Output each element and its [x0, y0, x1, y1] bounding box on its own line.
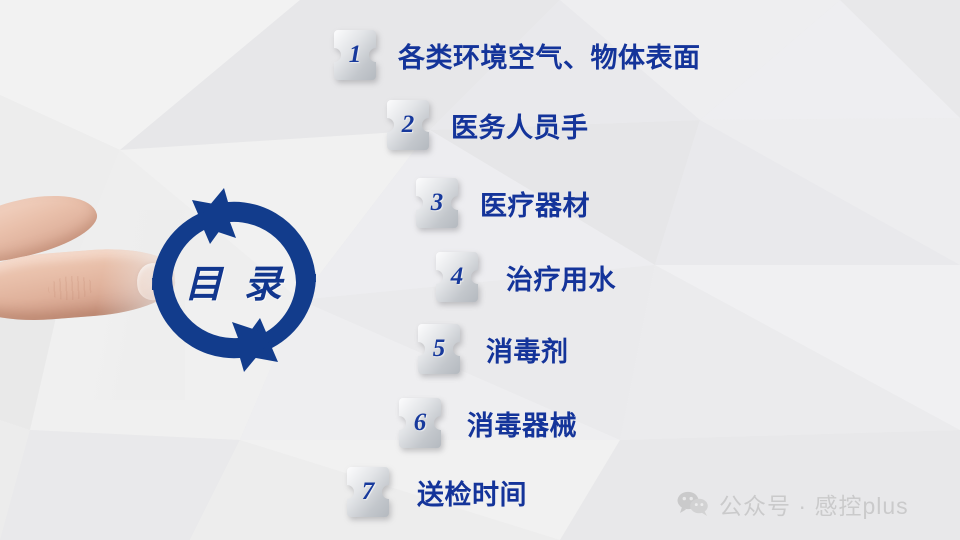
item-label: 送检时间: [417, 473, 527, 512]
contents-list: 1 各类环境空气、物体表面 2 医务人员手 3 医疗器材: [0, 0, 960, 540]
number-badge: 6: [397, 396, 443, 450]
watermark: 公众号 · 感控plus: [676, 487, 909, 521]
item-number: 3: [414, 176, 460, 230]
number-badge: 5: [416, 322, 462, 376]
list-item[interactable]: 4 治疗用水: [434, 250, 616, 304]
item-label: 消毒器械: [467, 404, 577, 443]
number-badge: 2: [385, 98, 431, 152]
item-number: 4: [434, 250, 480, 304]
item-label: 医疗器材: [480, 184, 590, 223]
item-number: 5: [416, 322, 462, 376]
item-number: 7: [345, 465, 391, 519]
number-badge: 4: [434, 250, 480, 304]
slide-canvas: 目 录 1 各类环境空气、物体表面: [0, 0, 960, 540]
item-label: 医务人员手: [451, 106, 589, 145]
wechat-icon: [676, 490, 710, 518]
list-item[interactable]: 7 送检时间: [345, 465, 527, 519]
number-badge: 7: [345, 465, 391, 519]
item-number: 1: [332, 28, 378, 82]
item-number: 2: [385, 98, 431, 152]
item-label: 消毒剂: [486, 330, 569, 369]
number-badge: 1: [332, 28, 378, 82]
item-number: 6: [397, 396, 443, 450]
list-item[interactable]: 6 消毒器械: [397, 396, 577, 450]
list-item[interactable]: 1 各类环境空气、物体表面: [332, 28, 701, 82]
item-label: 治疗用水: [506, 258, 616, 297]
watermark-text: 公众号 · 感控plus: [719, 487, 909, 521]
list-item[interactable]: 3 医疗器材: [414, 176, 590, 230]
list-item[interactable]: 2 医务人员手: [385, 98, 589, 152]
number-badge: 3: [414, 176, 460, 230]
list-item[interactable]: 5 消毒剂: [416, 322, 569, 376]
item-label: 各类环境空气、物体表面: [398, 36, 701, 75]
